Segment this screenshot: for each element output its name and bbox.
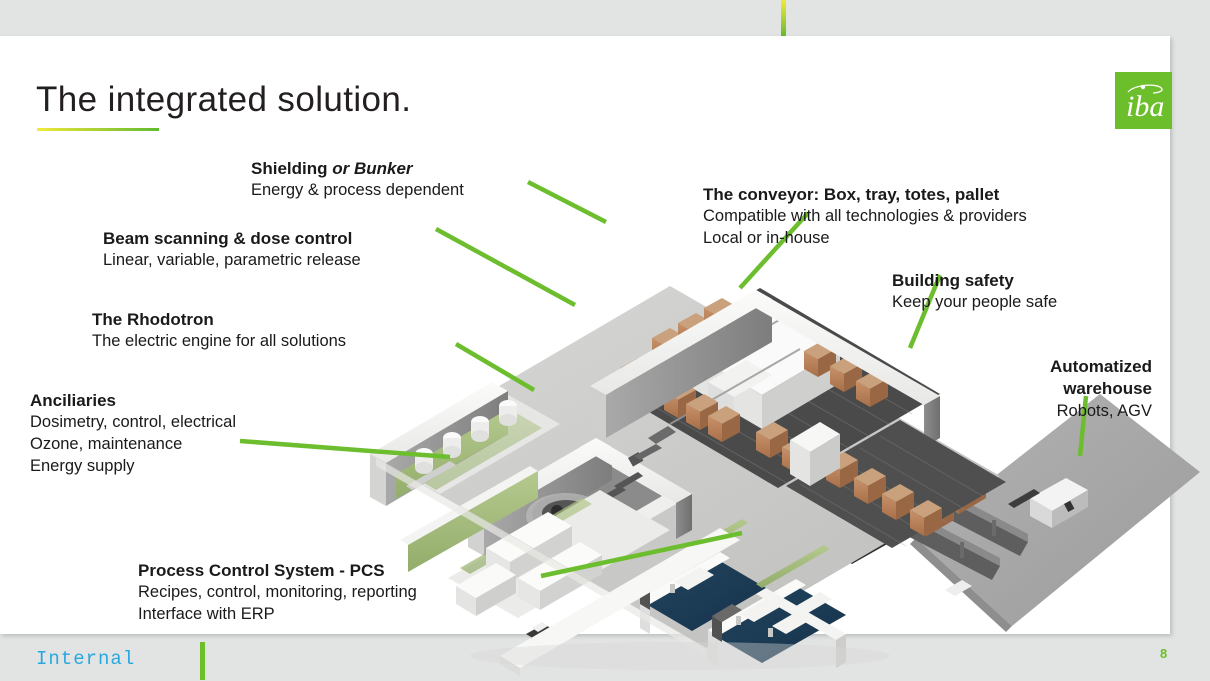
callout-line: Ozone, maintenance	[30, 434, 236, 456]
iba-logo: iba	[1115, 72, 1172, 129]
page-title: The integrated solution.	[36, 80, 411, 120]
callout-heading-line2: warehouse	[947, 378, 1152, 400]
callout-line: Recipes, control, monitoring, reporting	[138, 582, 417, 604]
callout-building-safety: Building safety Keep your people safe	[892, 270, 1057, 314]
callout-automatized-warehouse: Automatized warehouse Robots, AGV	[947, 356, 1152, 423]
callout-line: The electric engine for all solutions	[92, 331, 346, 353]
callout-line: Keep your people safe	[892, 292, 1057, 314]
footer-accent-tick	[200, 642, 205, 680]
logo-dot	[1141, 85, 1145, 89]
logo-wordmark: iba	[1126, 90, 1164, 123]
callout-conveyor: The conveyor: Box, tray, totes, pallet C…	[703, 184, 1027, 250]
callout-heading: Anciliaries	[30, 390, 236, 412]
callout-line: Compatible with all technologies & provi…	[703, 206, 1027, 228]
footer-classification-label: Internal	[36, 648, 135, 670]
callout-heading: Shielding or Bunker	[251, 158, 464, 180]
callout-rhodotron: The Rhodotron The electric engine for al…	[92, 309, 346, 353]
callout-beam-scanning: Beam scanning & dose control Linear, var…	[103, 228, 361, 272]
slide-canvas: The integrated solution. iba Shielding o…	[0, 36, 1170, 634]
callout-heading: The Rhodotron	[92, 309, 346, 331]
callout-heading: Beam scanning & dose control	[103, 228, 361, 250]
callout-heading-text: Shielding	[251, 159, 328, 178]
callout-anciliaries: Anciliaries Dosimetry, control, electric…	[30, 390, 236, 478]
callout-line: Robots, AGV	[947, 401, 1152, 423]
callout-heading: Process Control System - PCS	[138, 560, 417, 582]
callout-line: Interface with ERP	[138, 604, 417, 626]
callout-heading: Building safety	[892, 270, 1057, 292]
top-accent-tick	[781, 0, 786, 36]
page-number: 8	[1160, 646, 1167, 661]
callout-process-control-system: Process Control System - PCS Recipes, co…	[138, 560, 417, 626]
callout-line: Dosimetry, control, electrical	[30, 412, 236, 434]
callout-shielding: Shielding or Bunker Energy & process dep…	[251, 158, 464, 202]
title-underline-rule	[37, 128, 159, 131]
callout-heading-emphasis: or Bunker	[332, 159, 412, 178]
callout-line: Energy & process dependent	[251, 180, 464, 202]
callout-line: Energy supply	[30, 456, 236, 478]
callout-heading: The conveyor: Box, tray, totes, pallet	[703, 184, 1027, 206]
callout-line: Linear, variable, parametric release	[103, 250, 361, 272]
callout-line: Local or in-house	[703, 228, 1027, 250]
callout-heading: Automatized	[947, 356, 1152, 378]
